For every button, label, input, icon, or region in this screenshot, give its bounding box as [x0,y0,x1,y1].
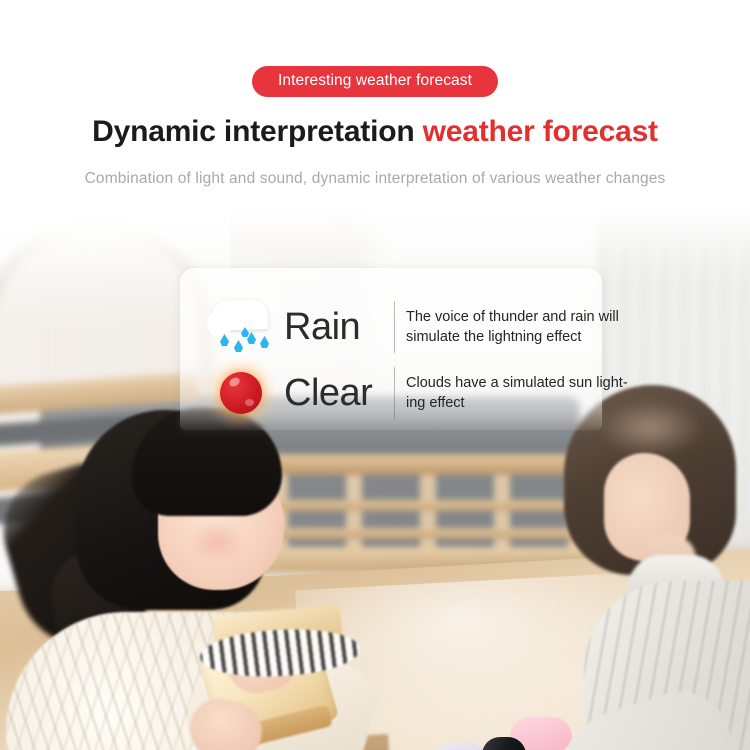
page-title-plain: Dynamic interpretation [92,115,422,148]
page-title-accent: weather forecast [423,115,658,148]
sun-shape [220,372,262,414]
page-root: 8:88 [0,0,750,750]
cloud-shape [211,299,268,331]
spec-divider [394,301,395,353]
page-header: Interesting weather forecast Dynamic int… [0,0,750,220]
woman-figure [556,385,750,750]
spec-row-clear: Clear Clouds have a simulated sun light-… [198,360,636,426]
spec-description-clear: Clouds have a simulated sun light- ing e… [406,373,636,413]
raindrop [234,340,243,352]
girl-figure [20,400,350,750]
spec-description-rain: The voice of thunder and rain will simul… [406,307,636,347]
spec-term-rain: Rain [284,308,394,346]
tagline-badge: Interesting weather forecast [252,66,498,97]
cloud-lavender [434,743,486,750]
spec-term-clear: Clear [284,374,394,412]
sun-sphere-icon [198,362,284,424]
rain-cloud-icon [198,296,284,358]
weather-spec-card: Rain The voice of thunder and rain will … [180,268,602,430]
page-title: Dynamic interpretation weather forecast [0,115,750,148]
spec-divider [394,367,395,419]
raindrop [260,336,269,348]
page-subtitle: Combination of light and sound, dynamic … [0,170,750,188]
girl-cheek [188,520,246,564]
spec-row-rain: Rain The voice of thunder and rain will … [198,294,636,360]
